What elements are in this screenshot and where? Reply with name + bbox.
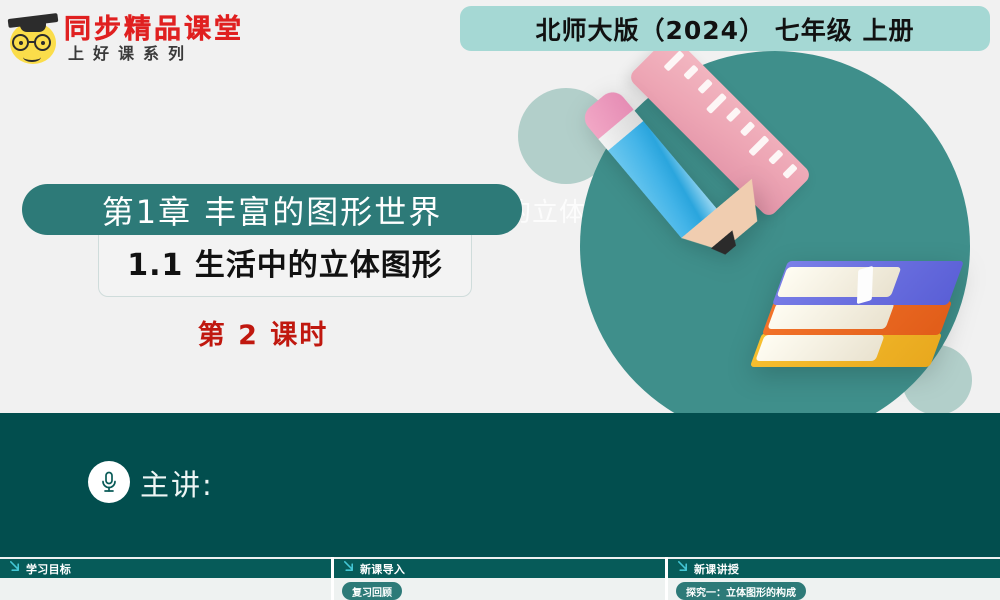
edition-banner-text: 北师大版（2024） 七年级 上册 — [536, 11, 915, 47]
panel-title-text: 新课导入 — [360, 561, 405, 577]
presenter-label: 主讲: — [140, 462, 214, 504]
panel-header: 新课讲授 — [668, 559, 1000, 578]
panel-title-text: 学习目标 — [26, 561, 71, 577]
bottom-panel-strip: 学习目标 新课导入 复习回顾 — [0, 557, 1000, 600]
logo-sub-text: 上好课系列 — [68, 40, 193, 64]
panel-new-lesson-teaching[interactable]: 新课讲授 探究一：立体图形的构成 — [668, 557, 1000, 600]
book-orange-pages — [767, 303, 894, 329]
panel-learning-objectives[interactable]: 学习目标 — [0, 557, 331, 600]
lesson-number-text: 第 2 课时 — [98, 312, 428, 352]
book-yellow-pages — [755, 335, 884, 361]
slide-upper-area: 的立体图 — [0, 0, 1000, 413]
panel-title-text: 新课讲授 — [694, 561, 739, 577]
microphone-icon — [88, 461, 130, 503]
chapter-title-text: 第1章 丰富的图形世界 — [102, 187, 443, 233]
panel-header: 新课导入 — [334, 559, 665, 578]
arrow-down-right-icon — [8, 560, 21, 578]
book-stack-illustration — [746, 255, 966, 395]
panel-chip-review[interactable]: 复习回顾 — [342, 582, 402, 600]
graduate-face-icon — [10, 18, 56, 64]
book-blue-band — [857, 266, 873, 305]
chapter-title-pill: 第1章 丰富的图形世界 — [22, 184, 522, 235]
panel-chip-text: 复习回顾 — [352, 584, 392, 599]
panel-header: 学习目标 — [0, 559, 331, 578]
edition-banner: 北师大版（2024） 七年级 上册 — [460, 6, 990, 51]
arrow-down-right-icon — [676, 560, 689, 578]
panel-chip-inquiry[interactable]: 探究一：立体图形的构成 — [676, 582, 806, 600]
book-blue-pages — [777, 267, 902, 297]
arrow-down-right-icon — [342, 560, 355, 578]
panel-new-lesson-intro[interactable]: 新课导入 复习回顾 — [334, 557, 665, 600]
section-title-text: 1.1 生活中的立体图形 — [90, 242, 480, 282]
panel-chip-text: 探究一：立体图形的构成 — [686, 584, 796, 599]
slide-canvas: 的立体图 — [0, 0, 1000, 600]
brand-logo: 同步精品课堂 上好课系列 — [8, 4, 254, 66]
